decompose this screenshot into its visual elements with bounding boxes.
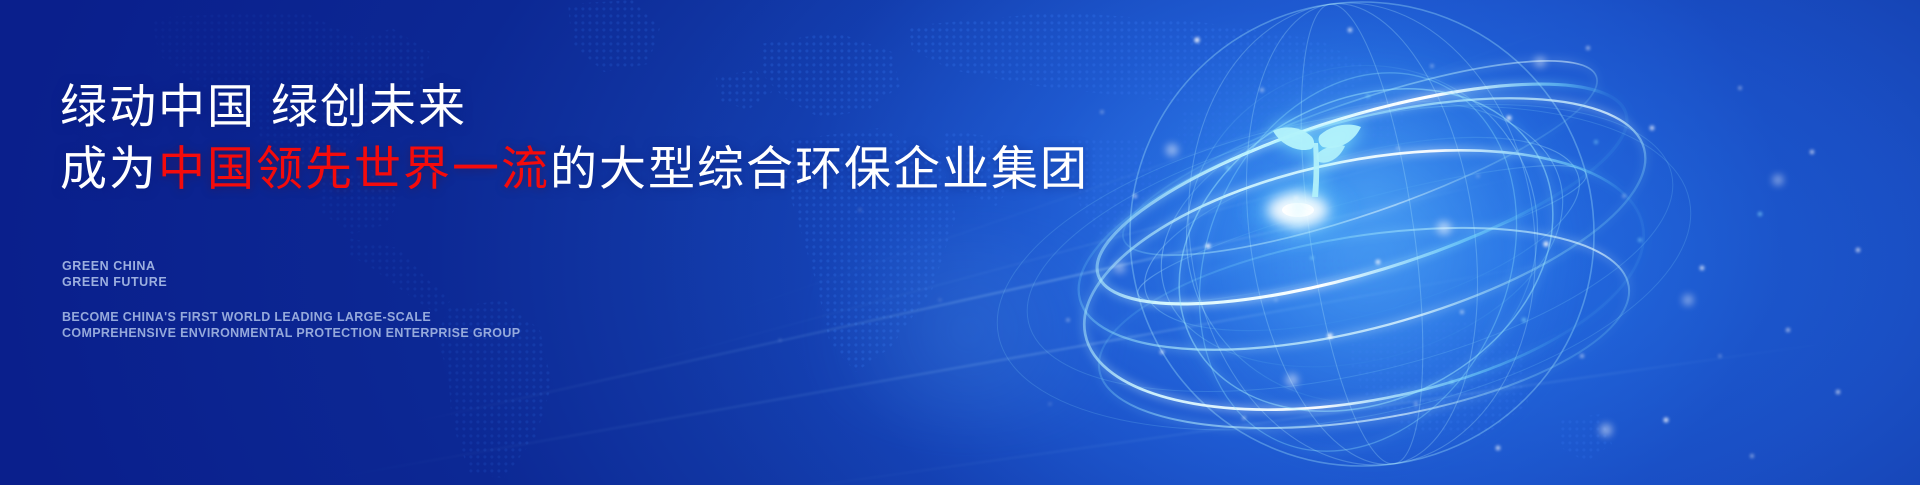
hero-banner: 绿动中国 绿创未来 成为中国领先世界一流的大型综合环保企业集团 GREEN CH…: [0, 0, 1920, 485]
headline-line-2-prefix: 成为: [60, 142, 158, 195]
headline-highlight: 中国领先世界一流: [158, 142, 550, 195]
globe-wireframe-graphic: [1082, 0, 1642, 485]
tagline-en-line-1: BECOME CHINA'S FIRST WORLD LEADING LARGE…: [62, 310, 520, 326]
tagline-en-line-2: COMPREHENSIVE ENVIRONMENTAL PROTECTION E…: [62, 326, 520, 342]
headline-group: 绿动中国 绿创未来 成为中国领先世界一流的大型综合环保企业集团: [60, 78, 1089, 198]
headline-line-2: 成为中国领先世界一流的大型综合环保企业集团: [60, 140, 1089, 198]
banner-copy: 绿动中国 绿创未来 成为中国领先世界一流的大型综合环保企业集团 GREEN CH…: [60, 0, 1060, 485]
globe-ambient-glow: [1150, 60, 1590, 460]
headline-line-2-suffix: 的大型综合环保企业集团: [550, 142, 1089, 195]
tagline-english: BECOME CHINA'S FIRST WORLD LEADING LARGE…: [62, 310, 520, 341]
subtitle-en-line-1: GREEN CHINA: [62, 259, 167, 275]
headline-line-1: 绿动中国 绿创未来: [60, 78, 1089, 136]
subtitle-en-line-2: GREEN FUTURE: [62, 275, 167, 291]
sprout-leaf-icon: [1268, 113, 1364, 203]
light-burst-core: [1214, 150, 1382, 270]
subtitle-english: GREEN CHINA GREEN FUTURE: [62, 259, 167, 290]
